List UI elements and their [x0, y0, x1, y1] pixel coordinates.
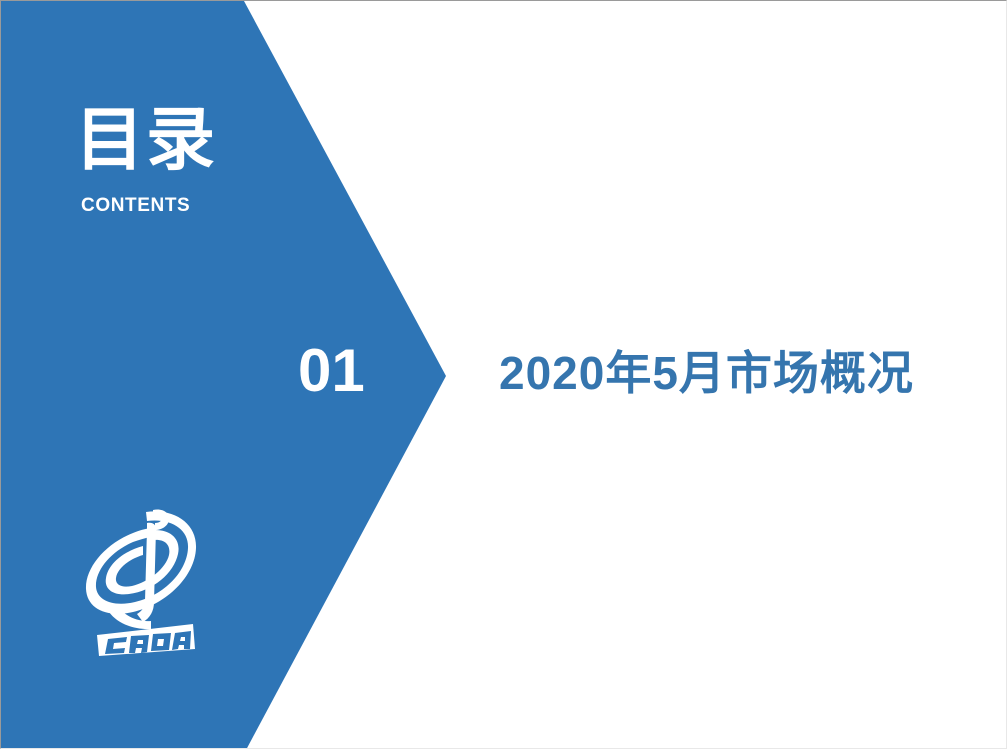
section-title: 2020年5月市场概况 — [499, 346, 914, 400]
section-number: 01 — [298, 341, 365, 401]
heading-title-en: CONTENTS — [81, 195, 375, 217]
slide-canvas: 目录 CONTENTS 01 2020年5月市场概况 — [0, 0, 1007, 749]
cada-logo-icon — [83, 506, 201, 656]
contents-heading-block: 目录 CONTENTS — [75, 105, 375, 217]
cada-logo — [83, 506, 201, 656]
heading-title-cn: 目录 — [75, 105, 375, 175]
